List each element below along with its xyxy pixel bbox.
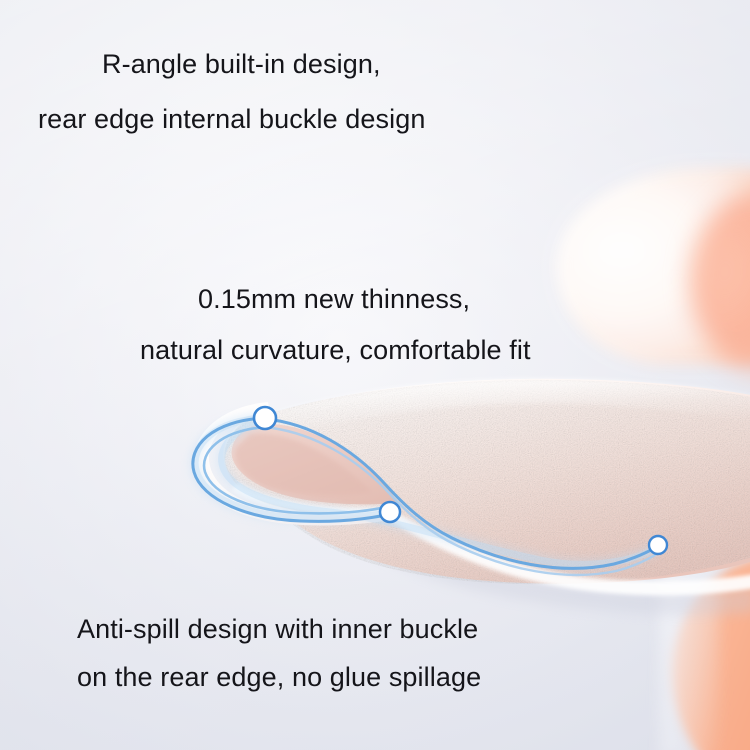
- callout-bottom-line-2: on the rear edge, no glue spillage: [77, 663, 481, 691]
- callout-middle-line-1: 0.15mm new thinness,: [198, 285, 470, 313]
- marker-rear-edge-underside: [649, 536, 667, 554]
- callout-top-line-2: rear edge internal buckle design: [38, 105, 425, 133]
- product-marketing-image: R-angle built-in design, rear edge inter…: [0, 0, 750, 750]
- callout-bottom-line-1: Anti-spill design with inner buckle: [77, 615, 478, 643]
- marker-r-angle-curl-apex: [254, 407, 276, 429]
- callout-middle-line-2: natural curvature, comfortable fit: [140, 336, 531, 364]
- callout-top-line-1: R-angle built-in design,: [102, 50, 381, 78]
- marker-inner-buckle-tip: [380, 502, 400, 522]
